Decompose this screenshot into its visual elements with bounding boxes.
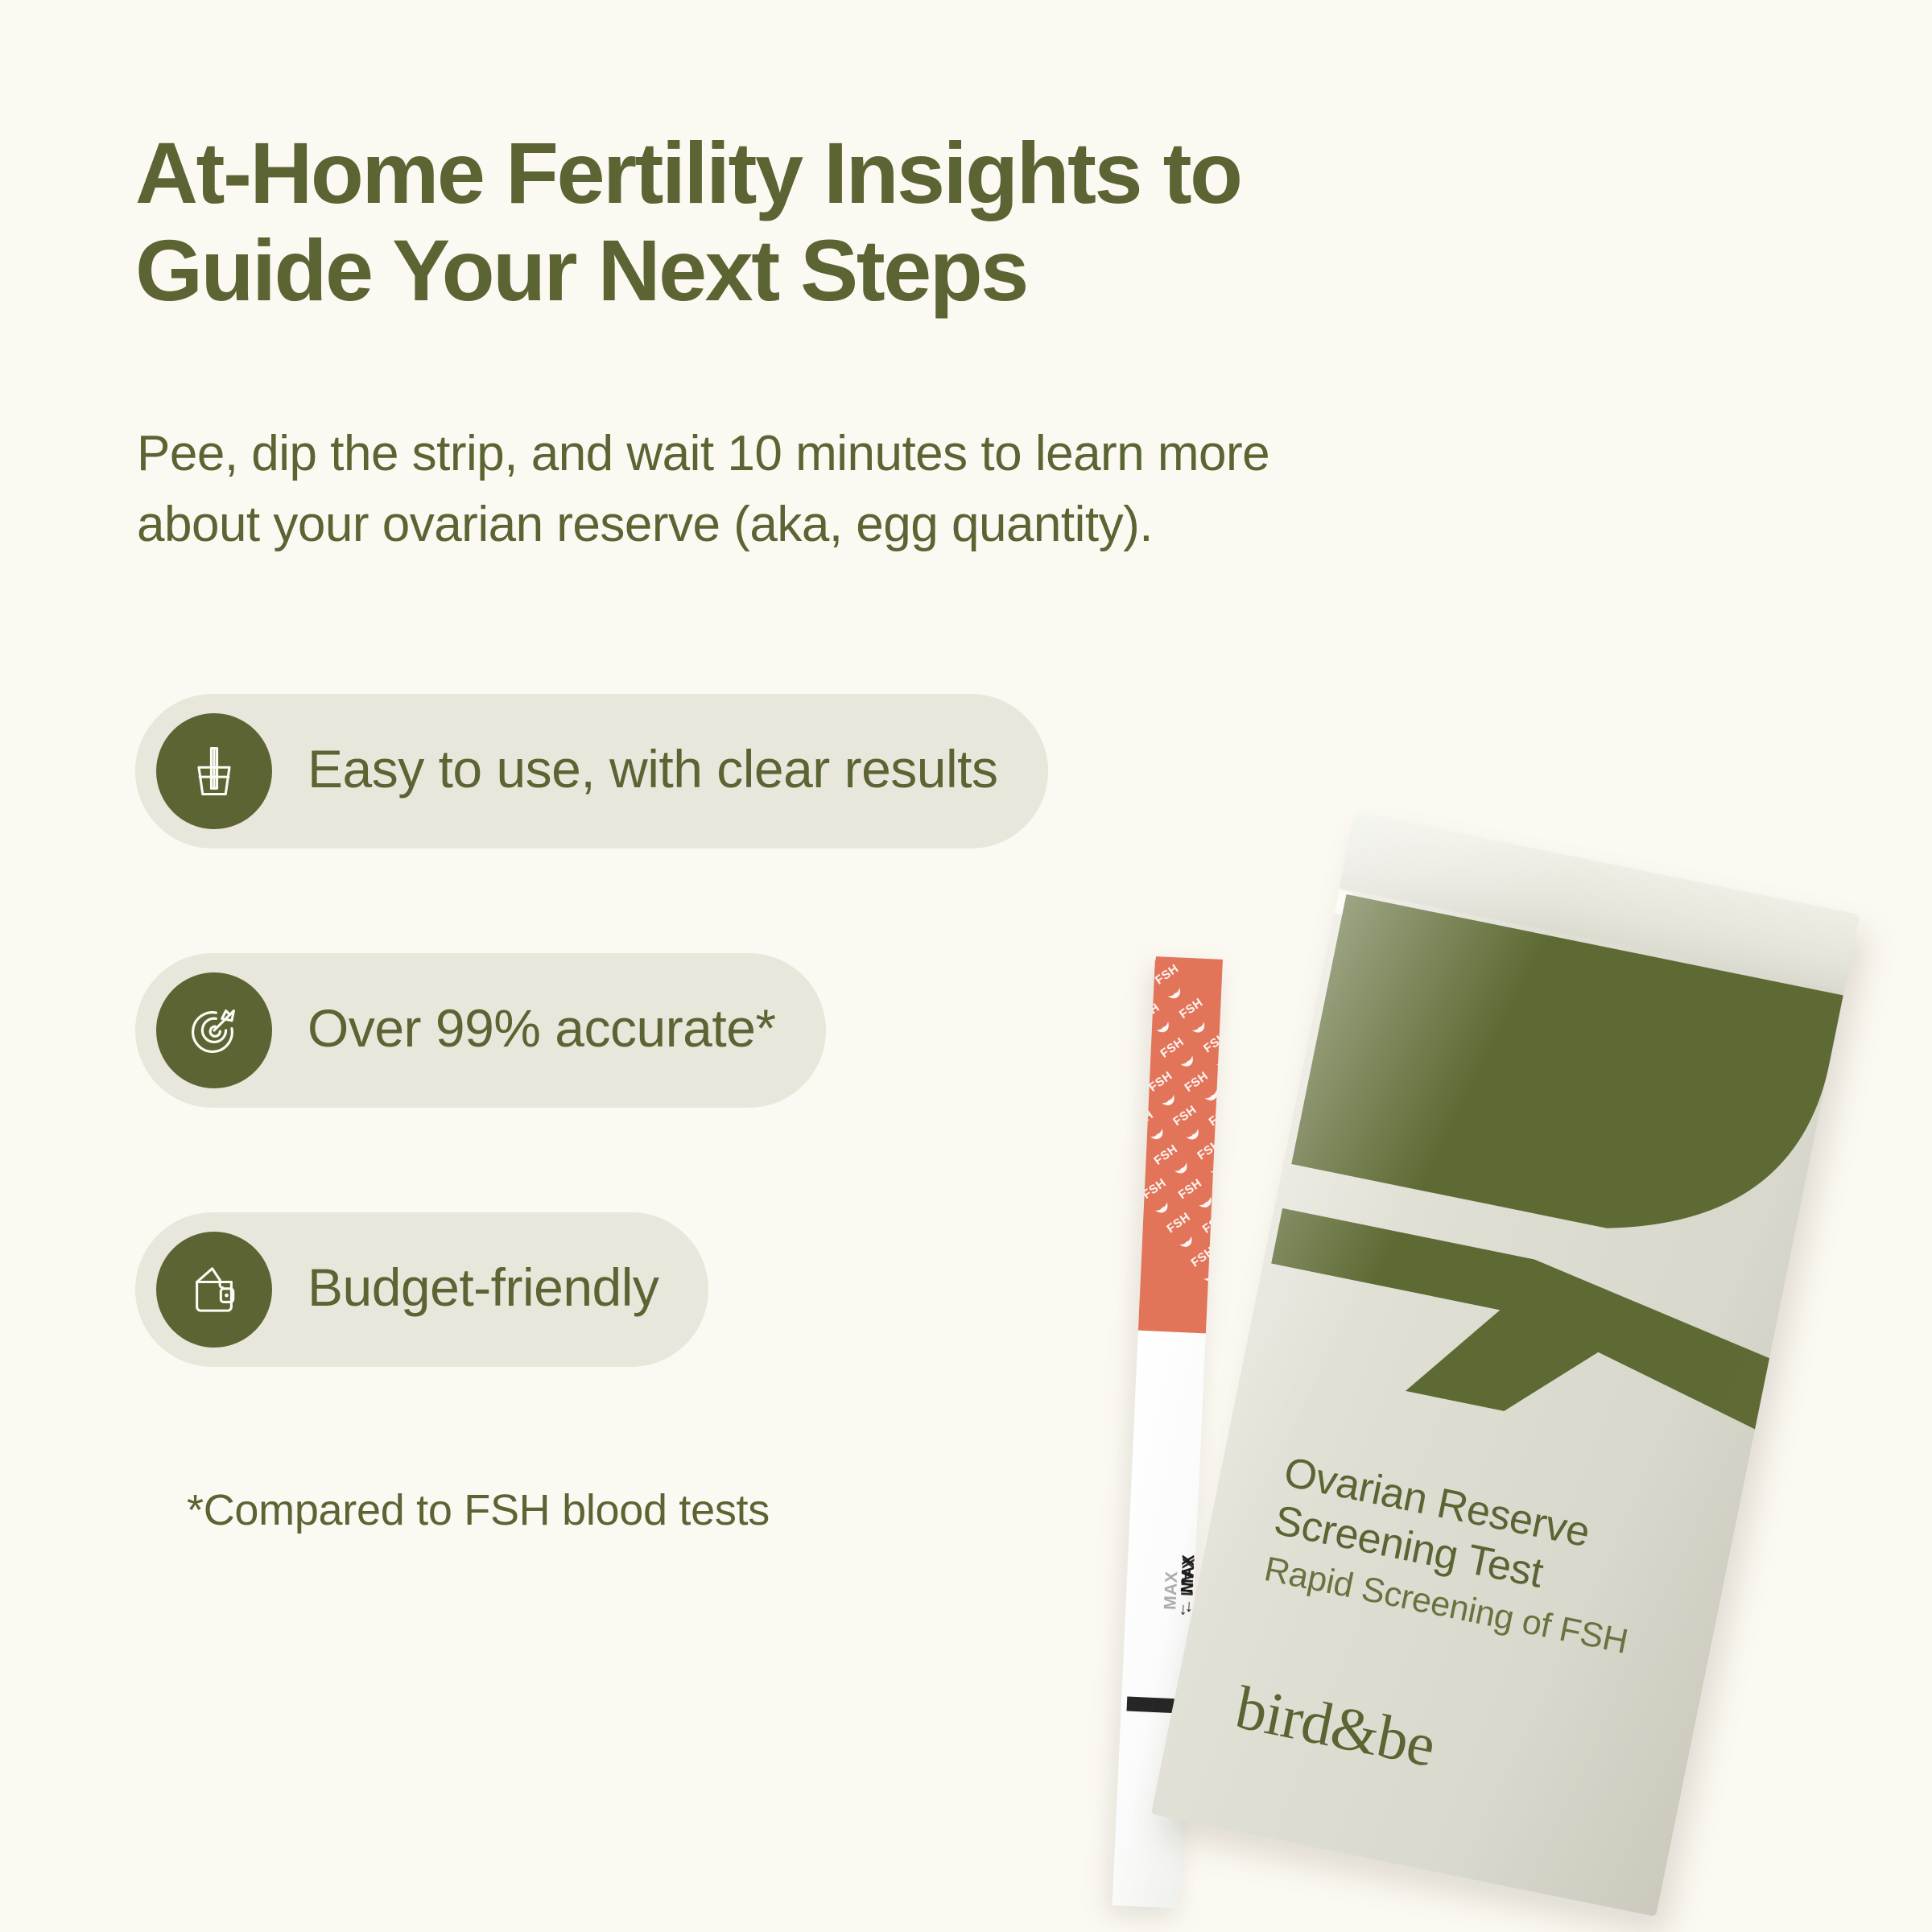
bird-logo-icon [1208, 1161, 1223, 1178]
fsh-text: FSH [1170, 1103, 1199, 1129]
bird-logo-icon [1221, 1229, 1223, 1246]
headline-line-1: At-Home Fertility Insights to [135, 125, 1584, 222]
bird-logo-icon [1148, 1126, 1166, 1143]
fsh-pattern: FSH FSH FSH FSH FSH FSH [1138, 956, 1223, 1333]
fsh-text: FSH [1146, 1068, 1175, 1094]
feature-pill-accuracy: Over 99% accurate* [135, 953, 826, 1108]
fsh-text: FSH [1151, 1142, 1180, 1168]
fsh-text: FSH [1201, 1030, 1223, 1055]
bird-logo-icon [1138, 1059, 1154, 1075]
product-pouch: Ovarian Reserve Screening Test Rapid Scr… [1151, 812, 1860, 1917]
bird-logo-icon [1138, 1166, 1148, 1183]
test-strip-fsh-label-section: FSH FSH FSH FSH FSH FSH [1138, 956, 1223, 1333]
product-marketing-card: At-Home Fertility Insights to Guide Your… [0, 0, 1932, 1932]
cup-with-test-strip-icon [156, 713, 272, 829]
bird-logo-icon [1166, 985, 1184, 1002]
fsh-text: FSH [1138, 1141, 1145, 1167]
fsh-text: FSH [1153, 961, 1182, 987]
fsh-text: FSH [1177, 996, 1206, 1022]
wallet-icon [156, 1232, 272, 1348]
fsh-text: FSH [1138, 1034, 1150, 1060]
bird-logo-icon [1172, 1161, 1191, 1178]
brand-logo: bird&be [1230, 1673, 1441, 1781]
feature-pill-budget: Budget-friendly [135, 1212, 708, 1367]
fsh-pattern-row: FSH FSH FSH [1212, 1226, 1222, 1304]
bird-logo-icon [1214, 1054, 1222, 1071]
pouch-product-title-block: Ovarian Reserve Screening Test Rapid Scr… [1261, 1448, 1700, 1672]
feature-label: Budget-friendly [308, 1257, 658, 1318]
fsh-pattern-row: FSH FSH FSH [1138, 988, 1145, 1066]
headline-line-2: Guide Your Next Steps [135, 222, 1584, 320]
bird-logo-icon [1154, 1199, 1172, 1216]
footnote: *Compared to FSH blood tests [187, 1485, 770, 1535]
fsh-text: FSH [1219, 1171, 1223, 1197]
feature-pill-easy-to-use: Easy to use, with clear results [135, 694, 1048, 848]
bird-logo-icon [1196, 1195, 1215, 1212]
bird-logo-icon [1141, 956, 1160, 968]
bird-logo-icon [1138, 1092, 1142, 1109]
product-photo-group: FSH FSH FSH FSH FSH FSH [1111, 853, 1932, 1932]
page-title: At-Home Fertility Insights to Guide Your… [135, 125, 1584, 320]
subtitle: Pee, dip the strip, and wait 10 minutes … [137, 419, 1811, 560]
fsh-text: FSH [1140, 1176, 1169, 1202]
pouch-abstract-bird-graphic [1241, 885, 1845, 1476]
bird-logo-icon [1178, 1234, 1196, 1251]
fsh-text: FSH [1164, 1210, 1193, 1236]
fsh-text: FSH [1212, 1278, 1222, 1304]
fsh-text: FSH [1188, 1244, 1217, 1269]
fsh-text: FSH [1195, 1137, 1223, 1162]
bird-logo-icon [1159, 1092, 1178, 1109]
bird-logo-icon [1138, 985, 1149, 1002]
bird-logo-icon [1154, 1019, 1173, 1036]
fsh-text: FSH [1175, 1176, 1204, 1202]
bird-logo-icon [1202, 1268, 1220, 1285]
feature-label: Easy to use, with clear results [308, 738, 998, 799]
subtitle-line-1: Pee, dip the strip, and wait 10 minutes … [137, 419, 1811, 489]
target-with-arrow-icon [156, 972, 272, 1088]
feature-list: Easy to use, with clear results Over 99%… [135, 694, 1048, 1472]
fsh-text: FSH [1158, 1034, 1187, 1060]
bird-logo-icon [1203, 1088, 1221, 1104]
bird-logo-icon [1179, 1054, 1197, 1071]
feature-label: Over 99% accurate* [308, 997, 776, 1059]
fsh-text: FSH [1182, 1069, 1211, 1095]
subtitle-line-2: about your ovarian reserve (aka, egg qua… [137, 489, 1811, 560]
bird-logo-icon [1190, 1020, 1208, 1037]
bird-logo-icon [1184, 1127, 1203, 1144]
fsh-text: FSH [1200, 1210, 1223, 1236]
